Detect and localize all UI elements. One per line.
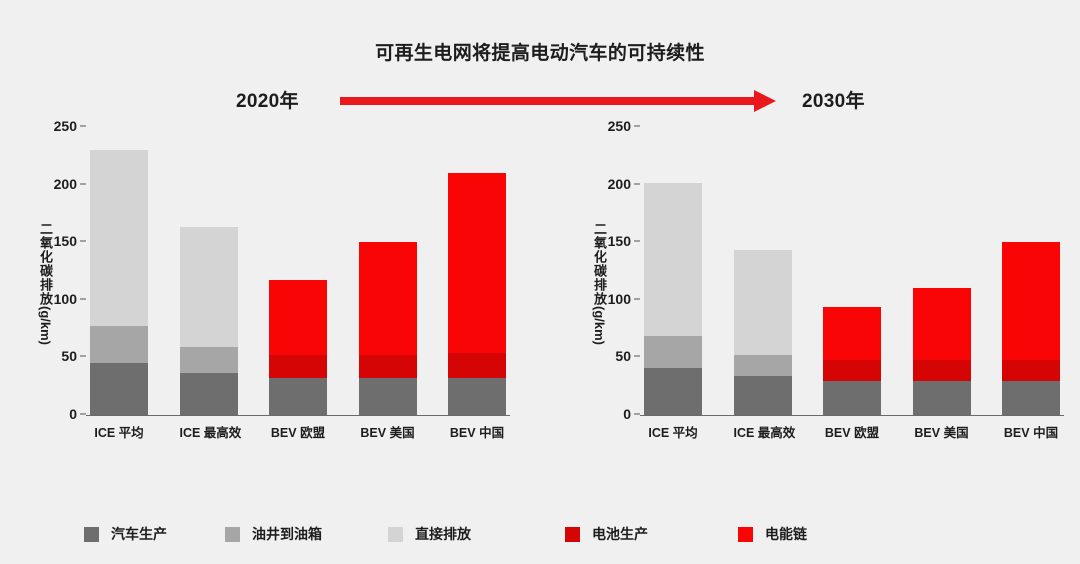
bar-segment	[269, 378, 327, 415]
bar-segment	[180, 373, 238, 414]
chart-page: 可再生电网将提高电动汽车的可持续性 2020年 2030年 二氧化碳排放(g/k…	[0, 0, 1080, 564]
bar-group-2030	[640, 127, 1064, 415]
bar-segment	[90, 363, 148, 415]
legend-item-electricity-chain[interactable]: 电能链	[738, 524, 807, 544]
bar-segment	[359, 355, 417, 378]
legend-label: 电能链	[765, 524, 807, 544]
x-axis-label: BEV 欧盟	[823, 422, 881, 441]
plot-area-2030: 250200150100500 ICE 平均ICE 最高效BEV 欧盟BEV 美…	[640, 126, 1064, 416]
bar-segment	[644, 368, 702, 414]
x-axis-labels-2030: ICE 平均ICE 最高效BEV 欧盟BEV 美国BEV 中国	[640, 422, 1064, 441]
y-tick-label: 250	[54, 118, 77, 134]
bar-stack[interactable]	[913, 127, 971, 415]
legend-item-battery-production[interactable]: 电池生产	[565, 524, 648, 544]
bar-stack[interactable]	[1002, 127, 1060, 415]
x-axis-label: ICE 平均	[644, 422, 702, 441]
bar-segment	[1002, 381, 1060, 414]
bar-segment	[269, 355, 327, 378]
year-label-end: 2030年	[802, 86, 865, 113]
bar-segment	[913, 288, 971, 361]
bar-segment	[90, 326, 148, 363]
arrow-head	[754, 90, 776, 112]
bar-stack[interactable]	[180, 127, 238, 415]
bar-segment	[823, 360, 881, 381]
chart-panel-2030: 二氧化碳排放(g/km) 250200150100500 ICE 平均ICE 最…	[574, 126, 1074, 456]
y-tick-label: 150	[608, 233, 631, 249]
bar-stack[interactable]	[269, 127, 327, 415]
legend-item-direct-emissions[interactable]: 直接排放	[388, 524, 471, 544]
legend-item-vehicle-production[interactable]: 汽车生产	[84, 524, 167, 544]
x-axis-labels-2020: ICE 平均ICE 最高效BEV 欧盟BEV 美国BEV 中国	[86, 422, 510, 441]
bar-segment	[734, 250, 792, 355]
page-title: 可再生电网将提高电动汽车的可持续性	[0, 38, 1080, 65]
bar-segment	[448, 378, 506, 415]
plot-area-2020: 250200150100500 ICE 平均ICE 最高效BEV 欧盟BEV 美…	[86, 126, 510, 416]
x-axis-label: ICE 最高效	[734, 422, 792, 441]
arrow-shaft	[340, 97, 760, 105]
y-tick-label: 100	[608, 291, 631, 307]
y-tick-label: 200	[608, 176, 631, 192]
x-axis-label: BEV 中国	[448, 422, 506, 441]
bar-segment	[1002, 360, 1060, 381]
bar-segment	[1002, 242, 1060, 361]
bar-stack[interactable]	[90, 127, 148, 415]
bar-segment	[448, 353, 506, 377]
x-axis-label: ICE 最高效	[180, 422, 238, 441]
x-axis-label: BEV 中国	[1002, 422, 1060, 441]
bar-segment	[269, 280, 327, 355]
bar-segment	[644, 336, 702, 368]
y-axis-title: 二氧化碳排放(g/km)	[580, 222, 606, 345]
legend-swatch-battery-production	[565, 527, 580, 542]
year-label-start: 2020年	[236, 86, 299, 113]
timeline-band: 2020年 2030年	[0, 82, 1080, 116]
y-tick-label: 100	[54, 291, 77, 307]
legend-swatch-electricity-chain	[738, 527, 753, 542]
legend-swatch-well-to-tank	[225, 527, 240, 542]
x-axis-label: BEV 美国	[913, 422, 971, 441]
bar-segment	[644, 183, 702, 336]
y-tick-label: 50	[615, 348, 631, 364]
bar-stack[interactable]	[644, 127, 702, 415]
y-tick-label: 150	[54, 233, 77, 249]
x-axis-label: ICE 平均	[90, 422, 148, 441]
y-axis-title-main: 二氧化碳排放	[592, 222, 607, 306]
bar-segment	[823, 381, 881, 414]
y-tick-label: 0	[69, 406, 77, 422]
bar-stack[interactable]	[359, 127, 417, 415]
bar-group-2020	[86, 127, 510, 415]
bar-stack[interactable]	[823, 127, 881, 415]
chart-legend: 汽车生产油井到油箱直接排放电池生产电能链	[0, 514, 1080, 554]
x-axis-label: BEV 欧盟	[269, 422, 327, 441]
right-arrow-icon	[340, 90, 790, 112]
x-axis-label: BEV 美国	[359, 422, 417, 441]
chart-panel-2020: 二氧化碳排放(g/km) 250200150100500 ICE 平均ICE 最…	[20, 126, 520, 456]
bar-segment	[734, 376, 792, 414]
legend-item-well-to-tank[interactable]: 油井到油箱	[225, 524, 322, 544]
bar-segment	[180, 227, 238, 347]
bar-segment	[448, 173, 506, 354]
y-axis-title-main: 二氧化碳排放	[38, 222, 53, 306]
legend-swatch-direct-emissions	[388, 527, 403, 542]
y-tick-label: 250	[608, 118, 631, 134]
y-axis-title: 二氧化碳排放(g/km)	[26, 222, 52, 345]
y-tick-label: 0	[623, 406, 631, 422]
x-axis-line	[640, 415, 1064, 417]
y-tick-label: 200	[54, 176, 77, 192]
bar-segment	[913, 360, 971, 381]
legend-label: 电池生产	[592, 524, 648, 544]
bar-segment	[90, 150, 148, 326]
bar-segment	[823, 307, 881, 360]
bar-stack[interactable]	[734, 127, 792, 415]
legend-swatch-vehicle-production	[84, 527, 99, 542]
bar-segment	[359, 242, 417, 355]
legend-label: 油井到油箱	[252, 524, 322, 544]
legend-label: 汽车生产	[111, 524, 167, 544]
bar-segment	[180, 347, 238, 373]
y-axis-title-unit: (g/km)	[38, 306, 53, 345]
y-tick-label: 50	[61, 348, 77, 364]
bar-segment	[359, 378, 417, 415]
y-axis-title-unit: (g/km)	[592, 306, 607, 345]
bar-stack[interactable]	[448, 127, 506, 415]
bar-segment	[913, 381, 971, 414]
x-axis-line	[86, 415, 510, 417]
bar-segment	[734, 355, 792, 377]
legend-label: 直接排放	[415, 524, 471, 544]
